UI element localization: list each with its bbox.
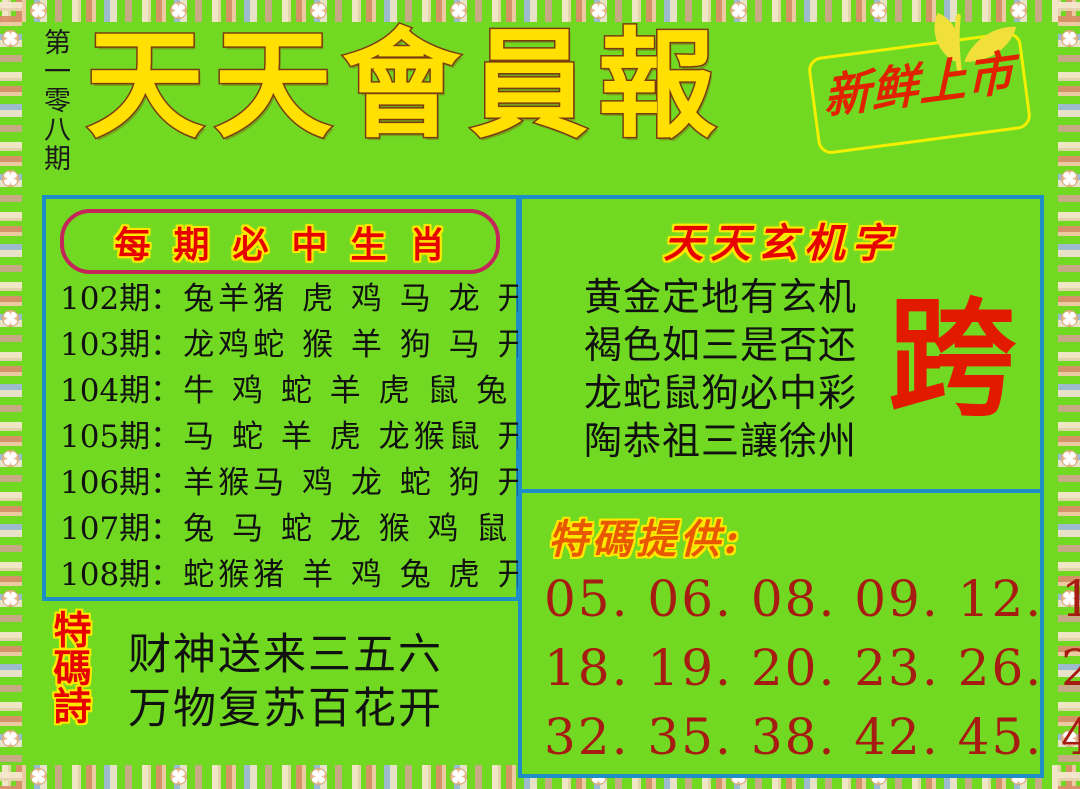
poem-body: 财神送来三五六 万物复苏百花开 [128, 628, 443, 736]
row-zodiac: 龙鸡蛇 猴 羊 狗 马 开： [183, 319, 567, 364]
number-row: 32. 35. 38. 42. 45. 47 [544, 703, 1026, 772]
number-row: 18. 19. 20. 23. 26. 29 [544, 634, 1026, 703]
row-zodiac: 马 蛇 羊 虎 龙猴鼠 开： [183, 411, 567, 456]
row-issue: 107期： [60, 503, 181, 548]
poem-line-1: 财神送来三五六 [128, 628, 443, 682]
new-arrival-badge: 新鲜上市 [807, 30, 1033, 155]
row-zodiac: 羊猴马 鸡 龙 蛇 狗 开： [183, 457, 567, 502]
table-row: 107期： 兔 马 蛇 龙 猴 鸡 鼠 开： [60, 503, 510, 549]
special-numbers-title: 特碼提供: [548, 507, 743, 565]
verse-line-3: 龙蛇鼠狗必中彩 [584, 369, 857, 417]
ornament-strip [0, 0, 22, 789]
table-row: 108期： 蛇猴猪 羊 鸡 兔 虎 开： [60, 549, 510, 595]
number-row: 05. 06. 08. 09. 12. 14 [544, 565, 1026, 634]
newspaper-page: 第一零八期 天天會員報 新鲜上市 每期必中生肖 102期： 兔羊猪 虎 鸡 马 … [0, 0, 1080, 789]
table-row: 102期： 兔羊猪 虎 鸡 马 龙 开： [60, 273, 510, 319]
mystic-big-character: 跨 [888, 295, 1016, 423]
zodiac-title-capsule: 每期必中生肖 [60, 209, 500, 274]
verse-line-1: 黄金定地有玄机 [584, 273, 857, 321]
table-row: 104期： 牛 鸡 蛇 羊 虎 鼠 兔 开： [60, 365, 510, 411]
ornament-border-left [0, 0, 22, 789]
poem-line-2: 万物复苏百花开 [128, 682, 443, 736]
verse-line-2: 褐色如三是否还 [584, 321, 857, 369]
zodiac-history-panel: 每期必中生肖 102期： 兔羊猪 虎 鸡 马 龙 开： 103期： 龙鸡蛇 猴 … [42, 195, 520, 601]
special-numbers-list: 05. 06. 08. 09. 12. 14 18. 19. 20. 23. 2… [544, 565, 1026, 772]
mystic-verse: 黄金定地有玄机 褐色如三是否还 龙蛇鼠狗必中彩 陶恭祖三讓徐州 [584, 273, 857, 465]
row-issue: 103期： [60, 319, 181, 364]
row-issue: 104期： [60, 365, 181, 410]
special-numbers-panel: 特碼提供: 05. 06. 08. 09. 12. 14 18. 19. 20.… [518, 489, 1044, 778]
mystic-word-panel: 天天玄机字 黄金定地有玄机 褐色如三是否还 龙蛇鼠狗必中彩 陶恭祖三讓徐州 跨 [518, 195, 1044, 493]
row-issue: 106期： [60, 457, 181, 502]
row-zodiac: 兔羊猪 虎 鸡 马 龙 开： [183, 273, 567, 318]
issue-number-label: 第一零八期 [30, 28, 70, 173]
row-issue: 102期： [60, 273, 181, 318]
verse-line-4: 陶恭祖三讓徐州 [584, 417, 857, 465]
row-issue: 105期： [60, 411, 181, 456]
table-row: 103期： 龙鸡蛇 猴 羊 狗 马 开： [60, 319, 510, 365]
zodiac-row-list: 102期： 兔羊猪 虎 鸡 马 龙 开： 103期： 龙鸡蛇 猴 羊 狗 马 开… [60, 273, 510, 595]
table-row: 106期： 羊猴马 鸡 龙 蛇 狗 开： [60, 457, 510, 503]
table-row: 105期： 马 蛇 羊 虎 龙猴鼠 开： [60, 411, 510, 457]
poem-label: 特碼詩 [42, 610, 92, 724]
mystic-word-title: 天天玄机字 [522, 211, 1040, 269]
row-zodiac: 蛇猴猪 羊 鸡 兔 虎 开： [183, 549, 567, 594]
page-title: 天天會員報 [86, 26, 726, 144]
row-issue: 108期： [60, 549, 181, 594]
zodiac-title: 每期必中生肖 [64, 213, 496, 270]
